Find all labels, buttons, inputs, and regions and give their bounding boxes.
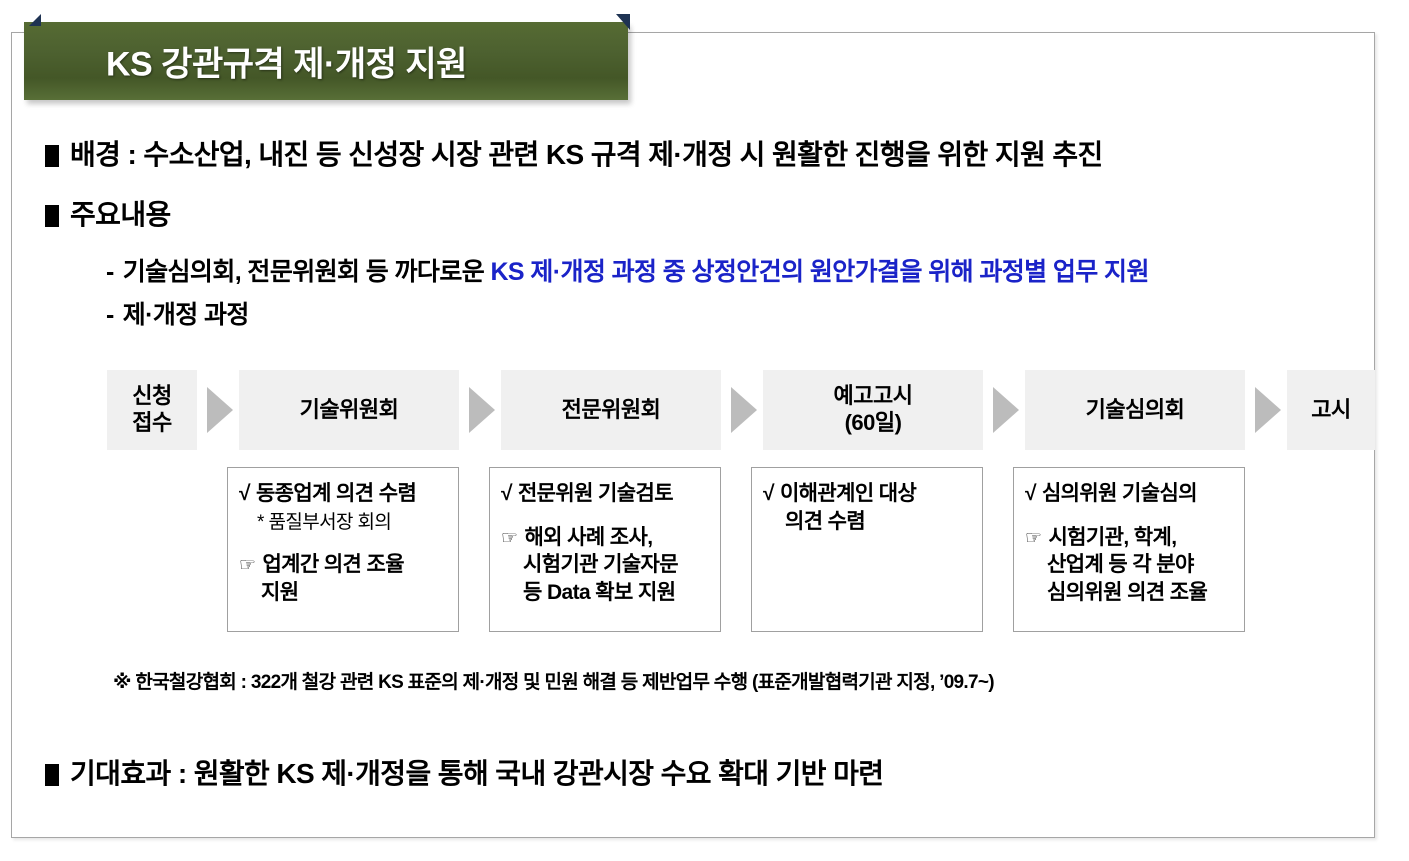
dash-bullet-icon: - bbox=[106, 301, 114, 329]
flow-arrow-icon-4 bbox=[993, 387, 1019, 433]
flow-step-expert-committee-line1: 전문위원회 bbox=[562, 397, 661, 424]
footnote-text: 한국철강협회 : 322개 철강 관련 KS 표준의 제·개정 및 민원 해결 … bbox=[135, 672, 994, 693]
flow-arrow-icon-3 bbox=[731, 387, 757, 433]
detail-4-hand: ☞시험기관, 학계, bbox=[1025, 524, 1236, 552]
detail-2-check-text: 전문위원 기술검토 bbox=[518, 482, 673, 505]
flow-step-public-notice-line2: (60일) bbox=[834, 410, 913, 437]
banner-fold-left-icon bbox=[29, 14, 41, 26]
pointing-hand-icon: ☞ bbox=[1025, 528, 1041, 549]
detail-1-check-text: 동종업계 의견 수렴 bbox=[256, 482, 416, 505]
main-item-1-highlight: KS 제·개정 과정 중 상정안건의 원안가결을 위해 과정별 업무 지원 bbox=[490, 258, 1148, 286]
square-bullet-icon bbox=[45, 205, 59, 227]
flow-arrow-icon-1 bbox=[207, 387, 233, 433]
flow-step-notification: 고시 bbox=[1287, 370, 1375, 450]
detail-4-hand-cont: 산업계 등 각 분야 bbox=[1025, 551, 1236, 579]
detail-2-hand-cont2: 등 Data 확보 지원 bbox=[501, 579, 712, 607]
main-item-1: -기술심의회, 전문위원회 등 까다로운 KS 제·개정 과정 중 상정안건의 … bbox=[106, 252, 1149, 288]
detail-box-expert-committee: √전문위원 기술검토 ☞해외 사례 조사, 시험기관 기술자문 등 Data 확… bbox=[489, 467, 721, 632]
background-line: 배경 : 수소산업, 내진 등 신성장 시장 관련 KS 규격 제·개정 시 원… bbox=[45, 133, 1103, 173]
footnote: ※ 한국철강협회 : 322개 철강 관련 KS 표준의 제·개정 및 민원 해… bbox=[113, 667, 994, 694]
flow-arrow-icon-5 bbox=[1255, 387, 1281, 433]
expected-effect-line: 기대효과 : 원활한 KS 제·개정을 통해 국내 강관시장 수요 확대 기반 … bbox=[45, 752, 883, 792]
page-title: KS 강관규격 제·개정 지원 bbox=[106, 37, 467, 86]
main-content-heading: 주요내용 bbox=[45, 193, 171, 233]
detail-2-hand-cont: 시험기관 기술자문 bbox=[501, 551, 712, 579]
main-item-2: -제·개정 과정 bbox=[106, 295, 249, 331]
flow-step-technical-committee-line1: 기술위원회 bbox=[300, 397, 399, 424]
detail-box-public-notice: √이해관계인 대상 의견 수렴 bbox=[751, 467, 983, 632]
check-mark-icon: √ bbox=[239, 482, 250, 505]
check-mark-icon: √ bbox=[763, 482, 774, 505]
flow-step-public-notice: 예고고시 (60일) bbox=[763, 370, 983, 450]
reference-mark-icon: ※ bbox=[113, 672, 131, 693]
detail-2-hand: ☞해외 사례 조사, bbox=[501, 524, 712, 552]
main-heading-text: 주요내용 bbox=[70, 199, 171, 230]
detail-box-deliberation-committee: √심의위원 기술심의 ☞시험기관, 학계, 산업계 등 각 분야 심의위원 의견… bbox=[1013, 467, 1245, 632]
detail-1-hand-text: 업계간 의견 조율 bbox=[262, 553, 404, 576]
check-mark-icon: √ bbox=[1025, 482, 1036, 505]
process-flow: 신청 접수 기술위원회 전문위원회 예고고시 (60일) 기술심의회 고시 bbox=[107, 370, 1361, 450]
expected-effect-text: 기대효과 : 원활한 KS 제·개정을 통해 국내 강관시장 수요 확대 기반 … bbox=[70, 758, 883, 789]
dash-bullet-icon: - bbox=[106, 258, 114, 286]
detail-4-check: √심의위원 기술심의 bbox=[1025, 480, 1236, 508]
flow-step-application: 신청 접수 bbox=[107, 370, 197, 450]
flow-step-application-line2: 접수 bbox=[132, 410, 171, 437]
square-bullet-icon bbox=[45, 145, 59, 167]
detail-3-check-text: 이해관계인 대상 bbox=[780, 482, 916, 505]
detail-2-check: √전문위원 기술검토 bbox=[501, 480, 712, 508]
detail-3-check: √이해관계인 대상 bbox=[763, 480, 974, 508]
detail-1-note: * 품질부서장 회의 bbox=[239, 510, 450, 535]
detail-4-hand-cont2: 심의위원 의견 조율 bbox=[1025, 579, 1236, 607]
flow-step-expert-committee: 전문위원회 bbox=[501, 370, 721, 450]
flow-step-deliberation-committee: 기술심의회 bbox=[1025, 370, 1245, 450]
flow-step-deliberation-committee-line1: 기술심의회 bbox=[1086, 397, 1185, 424]
flow-arrow-icon-2 bbox=[469, 387, 495, 433]
main-item-2-plain: 제·개정 과정 bbox=[123, 301, 249, 329]
detail-box-technical-committee: √동종업계 의견 수렴 * 품질부서장 회의 ☞업계간 의견 조율 지원 bbox=[227, 467, 459, 632]
flow-step-public-notice-line1: 예고고시 bbox=[834, 383, 913, 410]
detail-4-check-text: 심의위원 기술심의 bbox=[1042, 482, 1197, 505]
check-mark-icon: √ bbox=[501, 482, 512, 505]
pointing-hand-icon: ☞ bbox=[239, 555, 255, 576]
pointing-hand-icon: ☞ bbox=[501, 528, 517, 549]
square-bullet-icon bbox=[45, 764, 59, 786]
slide-title-banner: KS 강관규격 제·개정 지원 bbox=[24, 22, 628, 100]
detail-3-check-cont: 의견 수렴 bbox=[763, 508, 974, 536]
main-item-1-plain: 기술심의회, 전문위원회 등 까다로운 bbox=[123, 258, 491, 286]
background-text: 배경 : 수소산업, 내진 등 신성장 시장 관련 KS 규격 제·개정 시 원… bbox=[70, 139, 1103, 170]
detail-1-hand: ☞업계간 의견 조율 bbox=[239, 551, 450, 579]
detail-2-hand-text: 해외 사례 조사, bbox=[524, 526, 652, 549]
detail-4-hand-text: 시험기관, 학계, bbox=[1048, 526, 1176, 549]
banner-fold-right-icon bbox=[616, 14, 630, 30]
flow-step-notification-line1: 고시 bbox=[1311, 397, 1350, 424]
detail-1-hand-cont: 지원 bbox=[239, 579, 450, 607]
flow-step-technical-committee: 기술위원회 bbox=[239, 370, 459, 450]
flow-step-application-line1: 신청 bbox=[132, 383, 171, 410]
detail-1-check: √동종업계 의견 수렴 bbox=[239, 480, 450, 508]
